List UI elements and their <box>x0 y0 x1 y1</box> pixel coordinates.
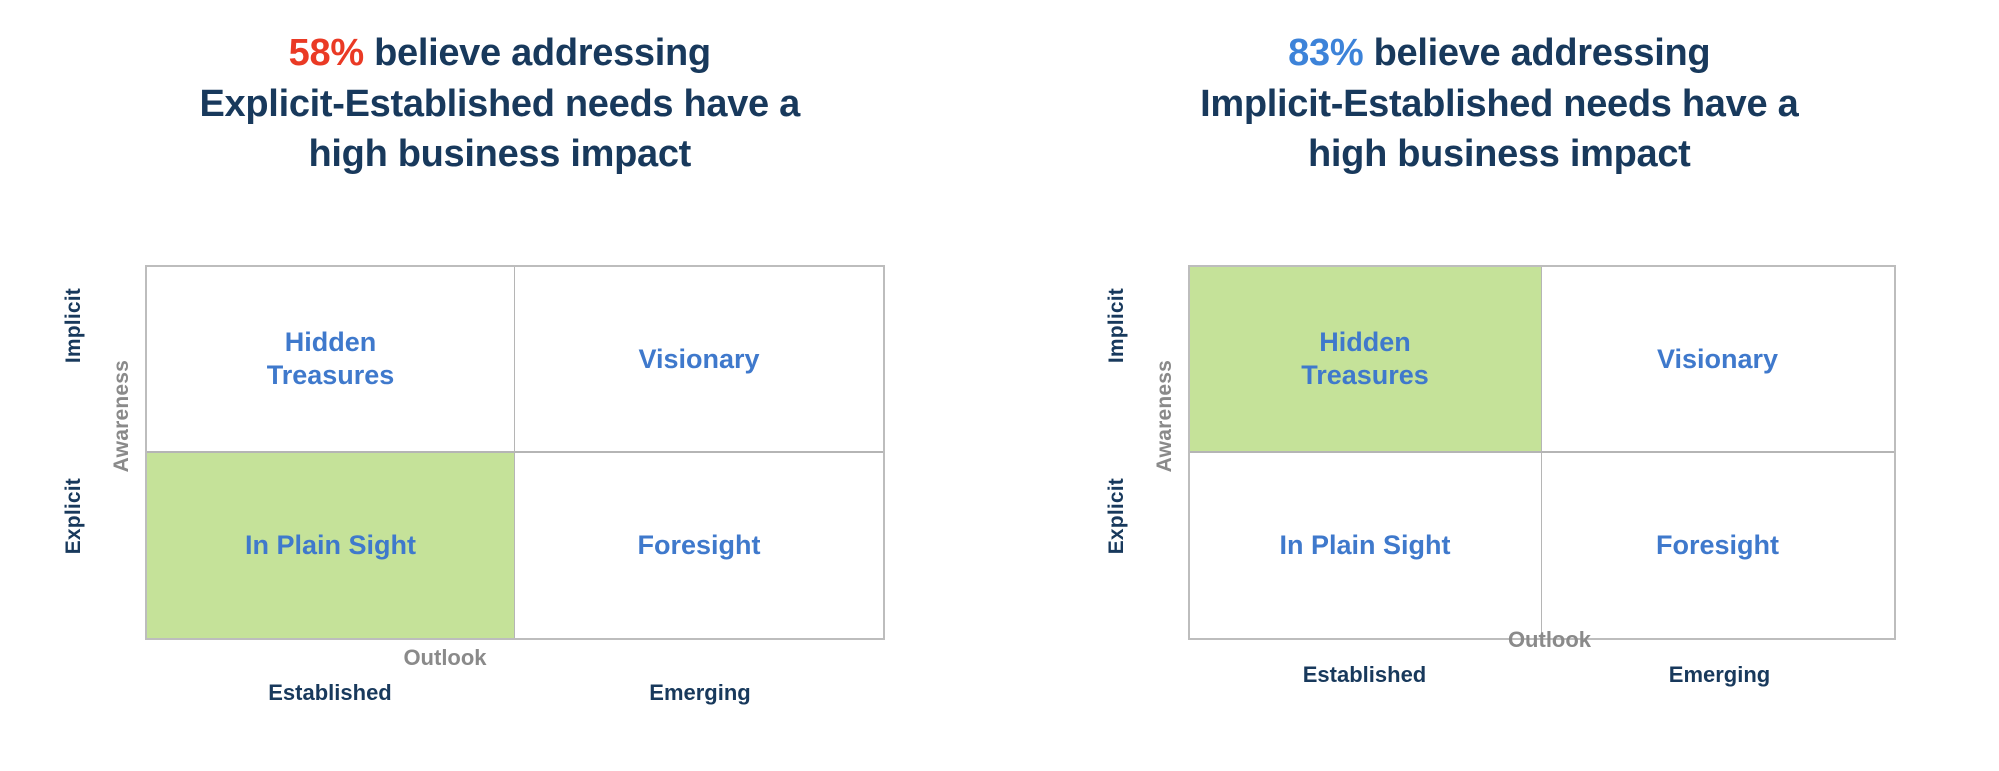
panel-container: 58% believe addressing Explicit-Establis… <box>0 0 1999 771</box>
y-axis-title-2: Awareness <box>1153 360 1177 472</box>
panel-2-title-line2: Implicit-Established needs have a <box>1200 83 1798 125</box>
x-axis-category-established-1: Established <box>268 680 391 706</box>
panel-1-title-line2: Explicit-Established needs have a <box>200 83 800 125</box>
panel-1-percent: 58% <box>289 32 364 74</box>
panel-title-1: 58% believe addressing Explicit-Establis… <box>0 0 1000 180</box>
panel-1-title-line1-rest: believe addressing <box>364 32 711 74</box>
panel-explicit-established: 58% believe addressing Explicit-Establis… <box>0 0 1000 771</box>
y-axis-category-explicit-1: Explicit <box>62 478 86 554</box>
quadrant-visionary-1[interactable]: Visionary <box>515 267 883 453</box>
quadrant-foresight-1[interactable]: Foresight <box>515 453 883 639</box>
quadrant-matrix-2: Hidden Treasures Visionary In Plain Sigh… <box>1188 265 1896 640</box>
quadrant-visionary-2[interactable]: Visionary <box>1542 267 1894 453</box>
y-axis-title-1: Awareness <box>110 360 134 472</box>
quadrant-in-plain-sight-2[interactable]: In Plain Sight <box>1190 453 1542 639</box>
quadrant-hidden-treasures-1[interactable]: Hidden Treasures <box>147 267 515 453</box>
x-axis-title-1: Outlook <box>403 645 486 671</box>
panel-2-title-line1-rest: believe addressing <box>1363 32 1710 74</box>
quadrant-in-plain-sight-1[interactable]: In Plain Sight <box>147 453 515 639</box>
y-axis-category-implicit-1: Implicit <box>62 288 86 363</box>
panel-title-2: 83% believe addressing Implicit-Establis… <box>1000 0 1999 180</box>
x-axis-category-emerging-1: Emerging <box>649 680 750 706</box>
quadrant-foresight-2[interactable]: Foresight <box>1542 453 1894 639</box>
quadrant-matrix-1: Hidden Treasures Visionary In Plain Sigh… <box>145 265 885 640</box>
panel-1-title-line3: high business impact <box>308 133 691 175</box>
y-axis-category-explicit-2: Explicit <box>1105 478 1129 554</box>
panel-implicit-established: 83% believe addressing Implicit-Establis… <box>1000 0 1999 771</box>
x-axis-category-emerging-2: Emerging <box>1669 662 1770 688</box>
panel-2-title-line3: high business impact <box>1308 133 1691 175</box>
quadrant-hidden-treasures-2[interactable]: Hidden Treasures <box>1190 267 1542 453</box>
panel-2-percent: 83% <box>1288 32 1363 74</box>
y-axis-category-implicit-2: Implicit <box>1105 288 1129 363</box>
x-axis-category-established-2: Established <box>1303 662 1426 688</box>
